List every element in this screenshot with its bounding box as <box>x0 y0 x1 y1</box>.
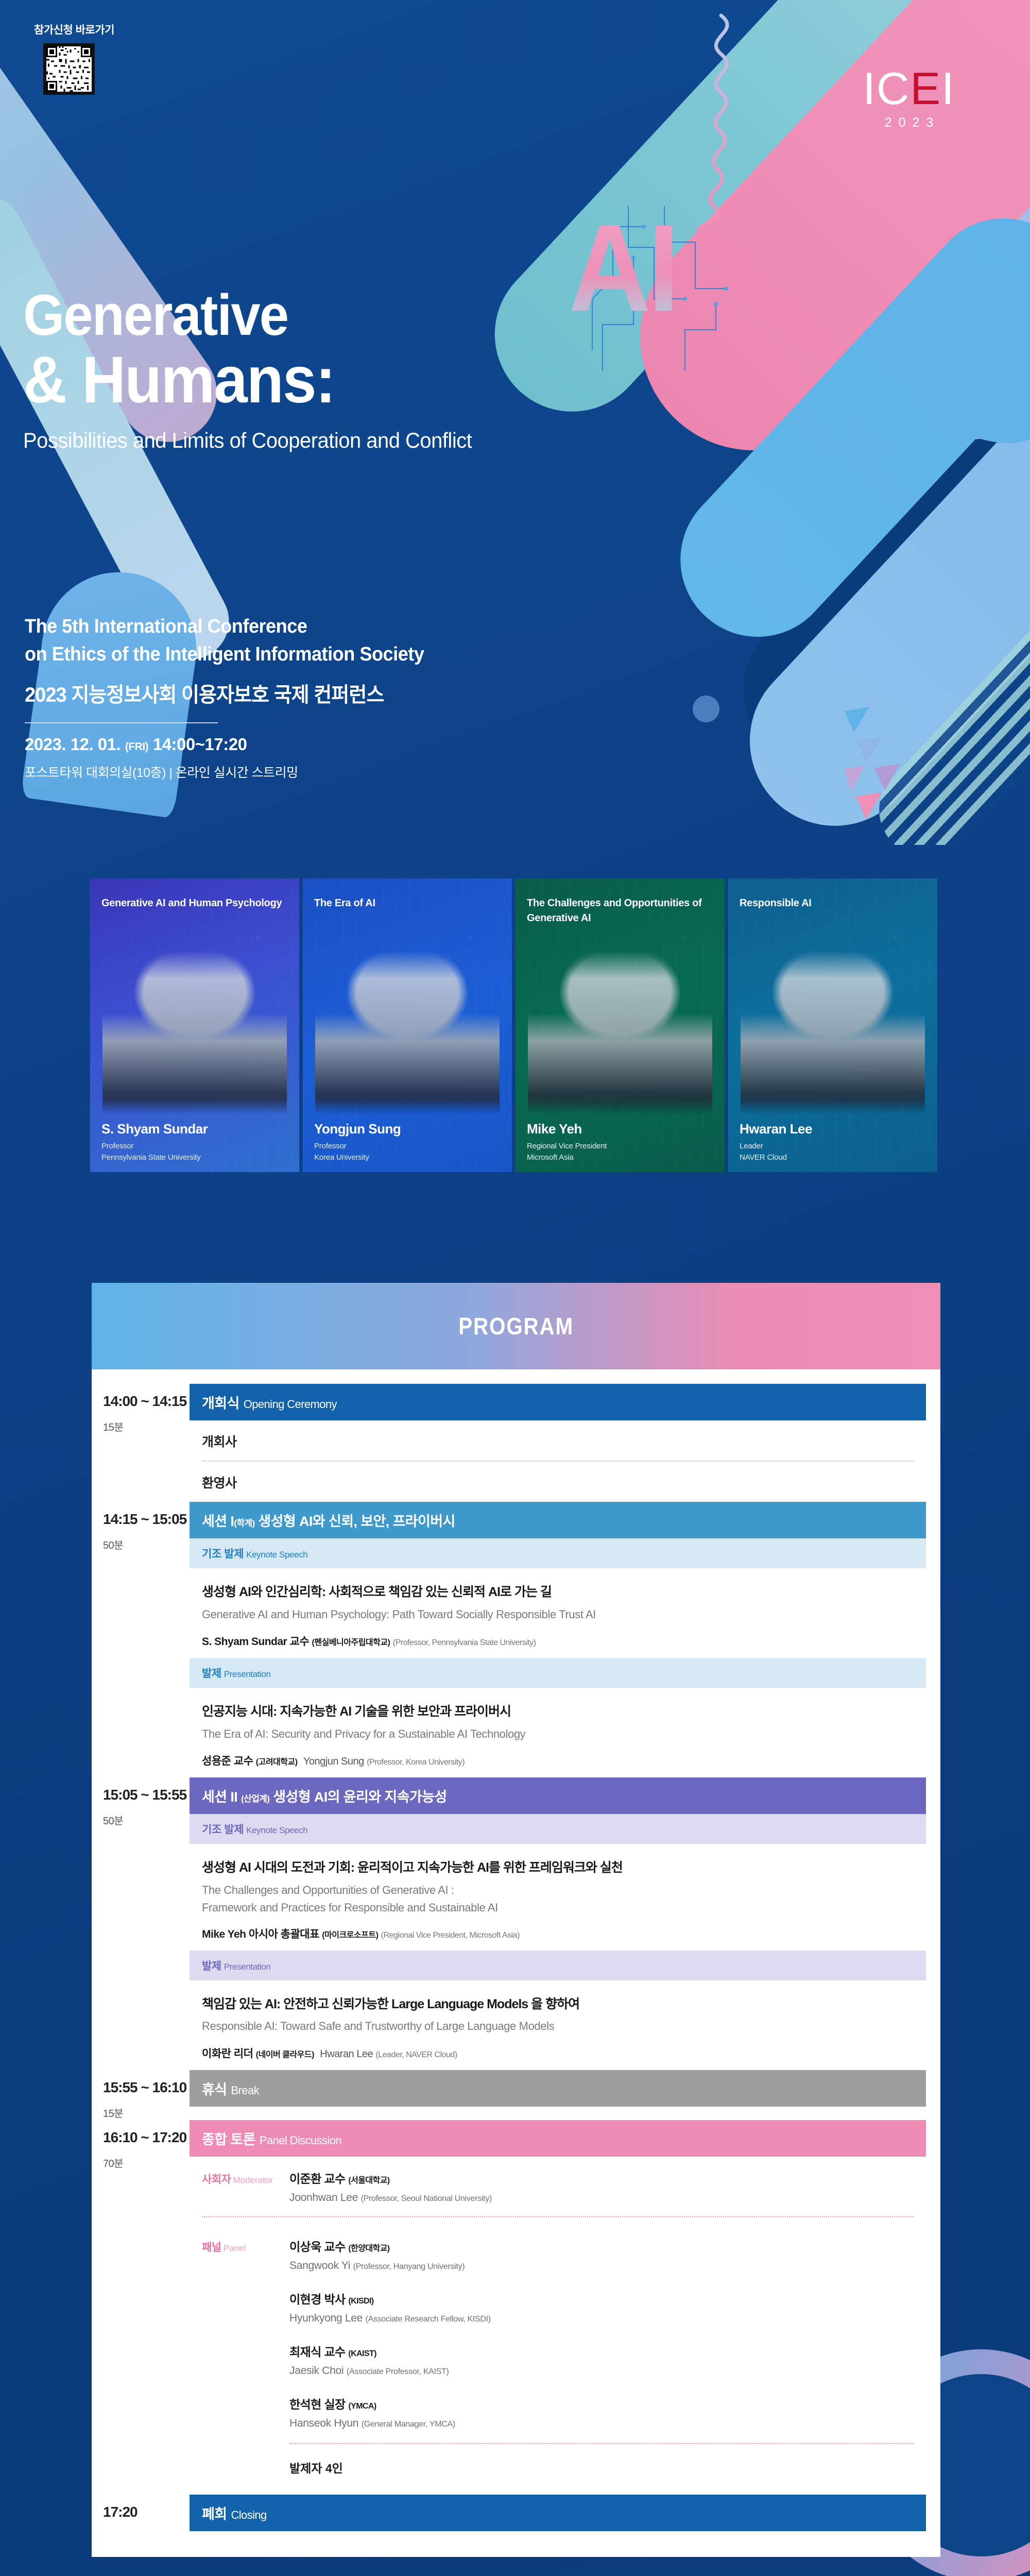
speaker-info: Hwaran Lee Leader NAVER Cloud <box>728 1121 937 1162</box>
decorative-blob-right <box>922 278 1030 443</box>
program-section-heading: 폐회Closing <box>190 2495 926 2531</box>
section-heading-rest: 생성형 AI의 윤리와 지속가능성 <box>273 1789 447 1805</box>
program-talk: 인공지능 시대: 지속가능한 AI 기술을 위한 보안과 프라이버시 The E… <box>190 1688 926 1777</box>
talk-speaker: Mike Yeh 아시아 총괄대표 (마이크로소프트) (Regional Vi… <box>202 1926 914 1941</box>
talk-speaker-enaff: (Leader, NAVER Cloud) <box>375 2050 457 2059</box>
subsection-kr: 발제 <box>202 1960 221 1972</box>
talk-title-en-2: Framework and Practices for Responsible … <box>202 1901 914 1914</box>
panelist-name-en: Hyunkyong Lee (Associate Research Fellow… <box>289 2312 914 2325</box>
panelist: 한석현 실장 (YMCA) Hanseok Hyun (General Mana… <box>289 2395 914 2430</box>
subsection-en: Keynote Speech <box>246 1825 307 1835</box>
qr-code-svg <box>46 46 92 92</box>
speaker-role: Professor <box>314 1142 501 1150</box>
section-heading-kr: 휴식 <box>202 2082 227 2097</box>
moderator-tag-kr: 사회자 <box>202 2174 231 2185</box>
program-section-heading: 휴식Break <box>190 2070 926 2107</box>
section-heading-en: Break <box>231 2084 259 2097</box>
panelist-enaff: (Professor, Hanyang University) <box>353 2262 465 2271</box>
divider <box>25 722 218 723</box>
panelist-name: 최재식 교수 <box>289 2345 346 2359</box>
section-heading-en: Opening Ceremony <box>244 1398 337 1411</box>
conference-date: 2023. 12. 01. <box>25 735 121 754</box>
section-heading-kr: 종합 토론 <box>202 2132 255 2147</box>
program-header-title: PROGRAM <box>458 1312 574 1340</box>
conference-datetime: 2023. 12. 01. (FRI) 14:00~17:20 <box>25 735 694 754</box>
program-time-range: 17:20 <box>103 2504 190 2520</box>
panelist-name-en: Jaesik Choi (Associate Professor, KAIST) <box>289 2365 914 2377</box>
title-line-2: & Humans: <box>23 350 734 411</box>
talk-speaker-kr: 이화란 리더 <box>202 2048 253 2060</box>
panelist-enaff: (Associate Research Fellow, KISDI) <box>366 2315 491 2324</box>
speaker-name: Mike Yeh <box>527 1121 713 1137</box>
speaker-topic: Generative AI and Human Psychology <box>90 878 299 911</box>
program-row-time: 17:20 <box>92 2495 190 2530</box>
moderator-enaff: (Professor, Seoul National University) <box>361 2194 492 2203</box>
talk-title-en: The Challenges and Opportunities of Gene… <box>202 1883 914 1898</box>
program-time-range: 15:05 ~ 15:55 <box>103 1787 190 1803</box>
program-time-range: 16:10 ~ 17:20 <box>103 2129 190 2146</box>
subsection-kr: 기조 발제 <box>202 1548 244 1560</box>
panelist-en: Jaesik Choi <box>289 2365 344 2377</box>
talk-speaker-kr: 성용준 교수 <box>202 1755 253 1767</box>
talk-speaker-aff: (네이버 클라우드) <box>256 2050 314 2059</box>
poster-title: Generative & Humans: Possibilities and L… <box>23 289 796 453</box>
panel-tag-kr: 패널 <box>202 2242 221 2253</box>
moderator-tag-en: Moderator <box>233 2175 272 2185</box>
program-duration: 70분 <box>103 2155 190 2170</box>
section-heading-en: Closing <box>231 2509 266 2521</box>
subsection-kr: 기조 발제 <box>202 1824 244 1836</box>
panelist-name-kr: 이상욱 교수 (한양대학교) <box>289 2237 914 2255</box>
speaker-org: NAVER Cloud <box>740 1153 926 1162</box>
program-rows: 14:00 ~ 14:15 15분 개회식Opening Ceremony 개회… <box>92 1369 940 2531</box>
icei-logo-year: 2023 <box>855 115 963 130</box>
subsection-en: Presentation <box>224 1962 271 1972</box>
speaker-card[interactable]: Responsible AI Hwaran Lee Leader NAVER C… <box>728 878 937 1172</box>
program-time-range: 15:55 ~ 16:10 <box>103 2079 190 2096</box>
conference-time: 14:00~17:20 <box>153 735 247 754</box>
speaker-portrait <box>102 940 286 1114</box>
talk-title-en: The Era of AI: Security and Privacy for … <box>202 1726 914 1742</box>
conference-name-kr: 2023 지능정보사회 이용자보호 국제 컨퍼런스 <box>25 678 661 708</box>
triangles-decoration-icon <box>845 696 999 829</box>
speaker-card[interactable]: The Era of AI Yongjun Sung Professor Kor… <box>303 878 512 1172</box>
moderator-person: 이준환 교수 (서울대학교) Joonhwan Lee (Professor, … <box>289 2169 914 2204</box>
conference-poster: 참가신청 바로가기 <box>0 0 1030 2576</box>
program-duration: 15분 <box>103 1419 190 1434</box>
speaker-name: Yongjun Sung <box>314 1121 501 1137</box>
divider <box>202 2216 914 2217</box>
moderator-name-kr: 이준환 교수 (서울대학교) <box>289 2169 914 2187</box>
panel-note: 발제자 4인 <box>289 2455 914 2476</box>
program-duration: 50분 <box>103 1537 190 1552</box>
panel-tag-en: Panel <box>224 2243 246 2253</box>
program-section-heading: 세션 I(학계) 생성형 AI와 신뢰, 보안, 프라이버시 <box>190 1502 926 1538</box>
moderator-name-en: Joonhwan Lee (Professor, Seoul National … <box>289 2192 914 2204</box>
conference-name-en-2: on Ethics of the Intelligent Information… <box>25 641 661 669</box>
program-talk: 생성형 AI와 인간심리학: 사회적으로 책임감 있는 신뢰적 AI로 가는 길… <box>190 1568 926 1658</box>
program-subsection-heading: 발제Presentation <box>190 1658 926 1688</box>
icei-letter-e: E <box>910 63 941 114</box>
program-row: 15:05 ~ 15:55 50분 세션 II (산업계) 생성형 AI의 윤리… <box>92 1777 940 2070</box>
program-section-heading: 세션 II (산업계) 생성형 AI의 윤리와 지속가능성 <box>190 1777 926 1814</box>
title-line-1: Generative <box>23 289 734 342</box>
panelist-aff: (한양대학교) <box>348 2244 389 2253</box>
divider <box>289 2443 914 2444</box>
program-subsection-heading: 발제Presentation <box>190 1951 926 1980</box>
section-heading-tag: (산업계) <box>241 1794 269 1804</box>
program-row-content: 세션 I(학계) 생성형 AI와 신뢰, 보안, 프라이버시 기조 발제Keyn… <box>190 1502 940 1777</box>
program-duration: 15분 <box>103 2105 190 2120</box>
program-section-heading: 종합 토론Panel Discussion <box>190 2120 926 2157</box>
panelist-aff: (YMCA) <box>348 2402 376 2411</box>
panelist-en: Hanseok Hyun <box>289 2417 358 2429</box>
talk-speaker-aff: (마이크로소프트) <box>322 1931 378 1940</box>
panelist-name-en: Hanseok Hyun (General Manager, YMCA) <box>289 2417 914 2430</box>
panelist-name-kr: 최재식 교수 (KAIST) <box>289 2342 914 2360</box>
panelist-name-kr: 한석현 실장 (YMCA) <box>289 2395 914 2412</box>
program-panel: PROGRAM 14:00 ~ 14:15 15분 개회식Opening Cer… <box>92 1283 940 2557</box>
speaker-topic: Responsible AI <box>728 878 937 911</box>
decorative-bar-navy <box>711 407 1030 799</box>
talk-speaker: 성용준 교수 (고려대학교) Yongjun Sung (Professor, … <box>202 1753 914 1768</box>
subsection-kr: 발제 <box>202 1668 221 1680</box>
decorative-bar-lightblue <box>715 180 1030 845</box>
program-row-content: 세션 II (산업계) 생성형 AI의 윤리와 지속가능성 기조 발제Keyno… <box>190 1777 940 2070</box>
talk-speaker-en: (Regional Vice President, Microsoft Asia… <box>381 1931 520 1940</box>
program-section-heading: 개회식Opening Ceremony <box>190 1384 926 1420</box>
panelist-enaff: (General Manager, YMCA) <box>362 2420 455 2429</box>
talk-title-kr: 생성형 AI와 인간심리학: 사회적으로 책임감 있는 신뢰적 AI로 가는 길 <box>202 1584 914 1601</box>
talk-title-en: Responsible AI: Toward Safe and Trustwor… <box>202 2019 914 2034</box>
program-row-time: 14:00 ~ 14:15 15분 <box>92 1384 190 1434</box>
panel-tag: 패널Panel <box>202 2237 289 2476</box>
program-item: 환영사 <box>190 1462 926 1502</box>
panelist: 최재식 교수 (KAIST) Jaesik Choi (Associate Pr… <box>289 2342 914 2377</box>
speaker-topic: The Challenges and Opportunities of Gene… <box>516 878 725 926</box>
talk-speaker-en: Yongjun Sung <box>303 1756 364 1767</box>
program-talk: 책임감 있는 AI: 안전하고 신뢰가능한 Large Language Mod… <box>190 1980 926 2070</box>
speaker-name: S. Shyam Sundar <box>101 1121 288 1137</box>
moderator-en: Joonhwan Lee <box>289 2192 358 2204</box>
program-row-content: 개회식Opening Ceremony 개회사 환영사 <box>190 1384 940 1502</box>
program-row-content: 폐회Closing <box>190 2495 940 2531</box>
program-row-time: 16:10 ~ 17:20 70분 <box>92 2120 190 2170</box>
panelist-en: Hyunkyong Lee <box>289 2312 363 2324</box>
speaker-info: S. Shyam Sundar Professor Pennsylvania S… <box>90 1121 299 1162</box>
section-heading-kr: 세션 I <box>202 1514 234 1529</box>
spacer <box>289 2272 914 2290</box>
panelist-en: Sangwook Yi <box>289 2260 350 2272</box>
conference-venue: 포스트타워 대회의실(10층) | 온라인 실시간 스트리밍 <box>25 762 694 781</box>
program-row: 17:20 폐회Closing <box>92 2495 940 2531</box>
speaker-info: Yongjun Sung Professor Korea University <box>303 1121 512 1162</box>
program-row-time: 14:15 ~ 15:05 50분 <box>92 1502 190 1552</box>
conference-name-en-1: The 5th International Conference <box>25 613 661 641</box>
speaker-card[interactable]: Generative AI and Human Psychology S. Sh… <box>90 878 299 1172</box>
qr-code-icon[interactable] <box>43 43 95 95</box>
panelist-name-kr: 이현경 박사 (KISDI) <box>289 2290 914 2307</box>
speaker-cards: Generative AI and Human Psychology S. Sh… <box>90 878 937 1172</box>
panelist-name: 이현경 박사 <box>289 2293 346 2306</box>
moderator-aff: (서울대학교) <box>348 2176 389 2185</box>
qr-registration-block[interactable]: 참가신청 바로가기 <box>34 22 142 95</box>
talk-title-kr: 인공지능 시대: 지속가능한 AI 기술을 위한 보안과 프라이버시 <box>202 1703 914 1720</box>
program-subsection-heading: 기조 발제Keynote Speech <box>190 1814 926 1844</box>
panelist-aff: (KAIST) <box>348 2349 376 2358</box>
subsection-en: Presentation <box>224 1669 271 1679</box>
program-subsection-heading: 기조 발제Keynote Speech <box>190 1538 926 1568</box>
section-heading-kr: 세션 II <box>202 1789 237 1805</box>
moderator-tag: 사회자Moderator <box>202 2169 289 2204</box>
speaker-org: Korea University <box>314 1153 501 1162</box>
talk-title-en: Generative AI and Human Psychology: Path… <box>202 1607 914 1622</box>
program-header: PROGRAM <box>92 1283 940 1369</box>
program-talk: 생성형 AI 시대의 도전과 기회: 윤리적이고 지속가능한 AI를 위한 프레… <box>190 1844 926 1950</box>
icei-logo: ICEI 2023 <box>855 67 963 130</box>
speaker-role: Regional Vice President <box>527 1142 713 1150</box>
speaker-portrait <box>741 940 924 1114</box>
section-heading-tag: (학계) <box>234 1518 254 1528</box>
icei-letters-left: IC <box>863 63 910 114</box>
panelist-name: 한석현 실장 <box>289 2398 346 2411</box>
moderator-name: 이준환 교수 <box>289 2172 346 2185</box>
panelist-name-en: Sangwook Yi (Professor, Hanyang Universi… <box>289 2260 914 2272</box>
speaker-card[interactable]: The Challenges and Opportunities of Gene… <box>516 878 725 1172</box>
panelist-list: 이상욱 교수 (한양대학교) Sangwook Yi (Professor, H… <box>289 2237 914 2476</box>
talk-speaker-kr: Mike Yeh 아시아 총괄대표 <box>202 1928 319 1940</box>
speaker-info: Mike Yeh Regional Vice President Microso… <box>516 1121 725 1162</box>
program-row-content: 휴식Break <box>190 2070 940 2107</box>
speaker-role: Leader <box>740 1142 926 1150</box>
talk-speaker: S. Shyam Sundar 교수 (펜실베니아주립대학교) (Profess… <box>202 1633 914 1649</box>
talk-title-kr: 생성형 AI 시대의 도전과 기회: 윤리적이고 지속가능한 AI를 위한 프레… <box>202 1859 914 1876</box>
program-row: 15:55 ~ 16:10 15분 휴식Break <box>92 2070 940 2120</box>
speaker-role: Professor <box>101 1142 288 1150</box>
subsection-en: Keynote Speech <box>246 1550 307 1560</box>
speaker-portrait <box>528 940 712 1114</box>
section-heading-kr: 개회식 <box>202 1396 239 1411</box>
program-time-range: 14:00 ~ 14:15 <box>103 1393 190 1410</box>
panelist: 이현경 박사 (KISDI) Hyunkyong Lee (Associate … <box>289 2290 914 2325</box>
program-row: 16:10 ~ 17:20 70분 종합 토론Panel Discussion … <box>92 2120 940 2481</box>
talk-speaker-en: Hwaran Lee <box>320 2048 373 2060</box>
program-row-content: 종합 토론Panel Discussion 사회자Moderator 이준환 교… <box>190 2120 940 2481</box>
speaker-topic: The Era of AI <box>303 878 512 911</box>
section-heading-kr: 폐회 <box>202 2506 227 2522</box>
qr-label: 참가신청 바로가기 <box>34 22 142 37</box>
section-heading-rest: 생성형 AI와 신뢰, 보안, 프라이버시 <box>258 1514 455 1529</box>
speaker-org: Pennsylvania State University <box>101 1153 288 1162</box>
speaker-org: Microsoft Asia <box>527 1153 713 1162</box>
program-row-time: 15:55 ~ 16:10 15분 <box>92 2070 190 2120</box>
conference-day: (FRI) <box>125 741 148 753</box>
talk-speaker: 이화란 리더 (네이버 클라우드) Hwaran Lee (Leader, NA… <box>202 2045 914 2061</box>
icei-letters-right: I <box>941 63 955 114</box>
talk-speaker-kr: S. Shyam Sundar 교수 <box>202 1636 309 1648</box>
panelists-block: 패널Panel 이상욱 교수 (한양대학교) Sangwook Yi (Prof… <box>190 2225 926 2481</box>
icei-logo-letters: ICEI <box>855 67 963 110</box>
program-duration: 50분 <box>103 1812 190 1827</box>
spacer <box>289 2325 914 2342</box>
spacer <box>289 2377 914 2395</box>
talk-speaker-aff: (고려대학교) <box>256 1758 298 1767</box>
talk-speaker-en: (Professor, Pennsylvania State Universit… <box>393 1638 536 1647</box>
program-row: 14:00 ~ 14:15 15분 개회식Opening Ceremony 개회… <box>92 1384 940 1502</box>
panelist-enaff: (Associate Professor, KAIST) <box>347 2367 449 2376</box>
panelist-name: 이상욱 교수 <box>289 2240 346 2253</box>
talk-title-kr: 책임감 있는 AI: 안전하고 신뢰가능한 Large Language Mod… <box>202 1996 914 2013</box>
program-row: 14:15 ~ 15:05 50분 세션 I(학계) 생성형 AI와 신뢰, 보… <box>92 1502 940 1777</box>
talk-speaker-enaff: (Professor, Korea University) <box>367 1758 465 1767</box>
panelist: 이상욱 교수 (한양대학교) Sangwook Yi (Professor, H… <box>289 2237 914 2272</box>
title-subtitle: Possibilities and Limits of Cooperation … <box>23 428 757 453</box>
speaker-name: Hwaran Lee <box>740 1121 926 1137</box>
talk-speaker-aff: (펜실베니아주립대학교) <box>312 1638 390 1647</box>
program-item: 개회사 <box>190 1420 926 1461</box>
speaker-portrait <box>315 940 499 1114</box>
moderator-block: 사회자Moderator 이준환 교수 (서울대학교) Joonhwan Lee… <box>190 2157 926 2209</box>
section-heading-en: Panel Discussion <box>260 2134 341 2147</box>
conference-info: The 5th International Conference on Ethi… <box>25 613 694 781</box>
decorative-dot <box>693 696 719 722</box>
program-time-range: 14:15 ~ 15:05 <box>103 1511 190 1528</box>
decorative-stripes <box>860 526 1030 845</box>
program-row-time: 15:05 ~ 15:55 50분 <box>92 1777 190 1827</box>
panelist-aff: (KISDI) <box>348 2297 373 2306</box>
